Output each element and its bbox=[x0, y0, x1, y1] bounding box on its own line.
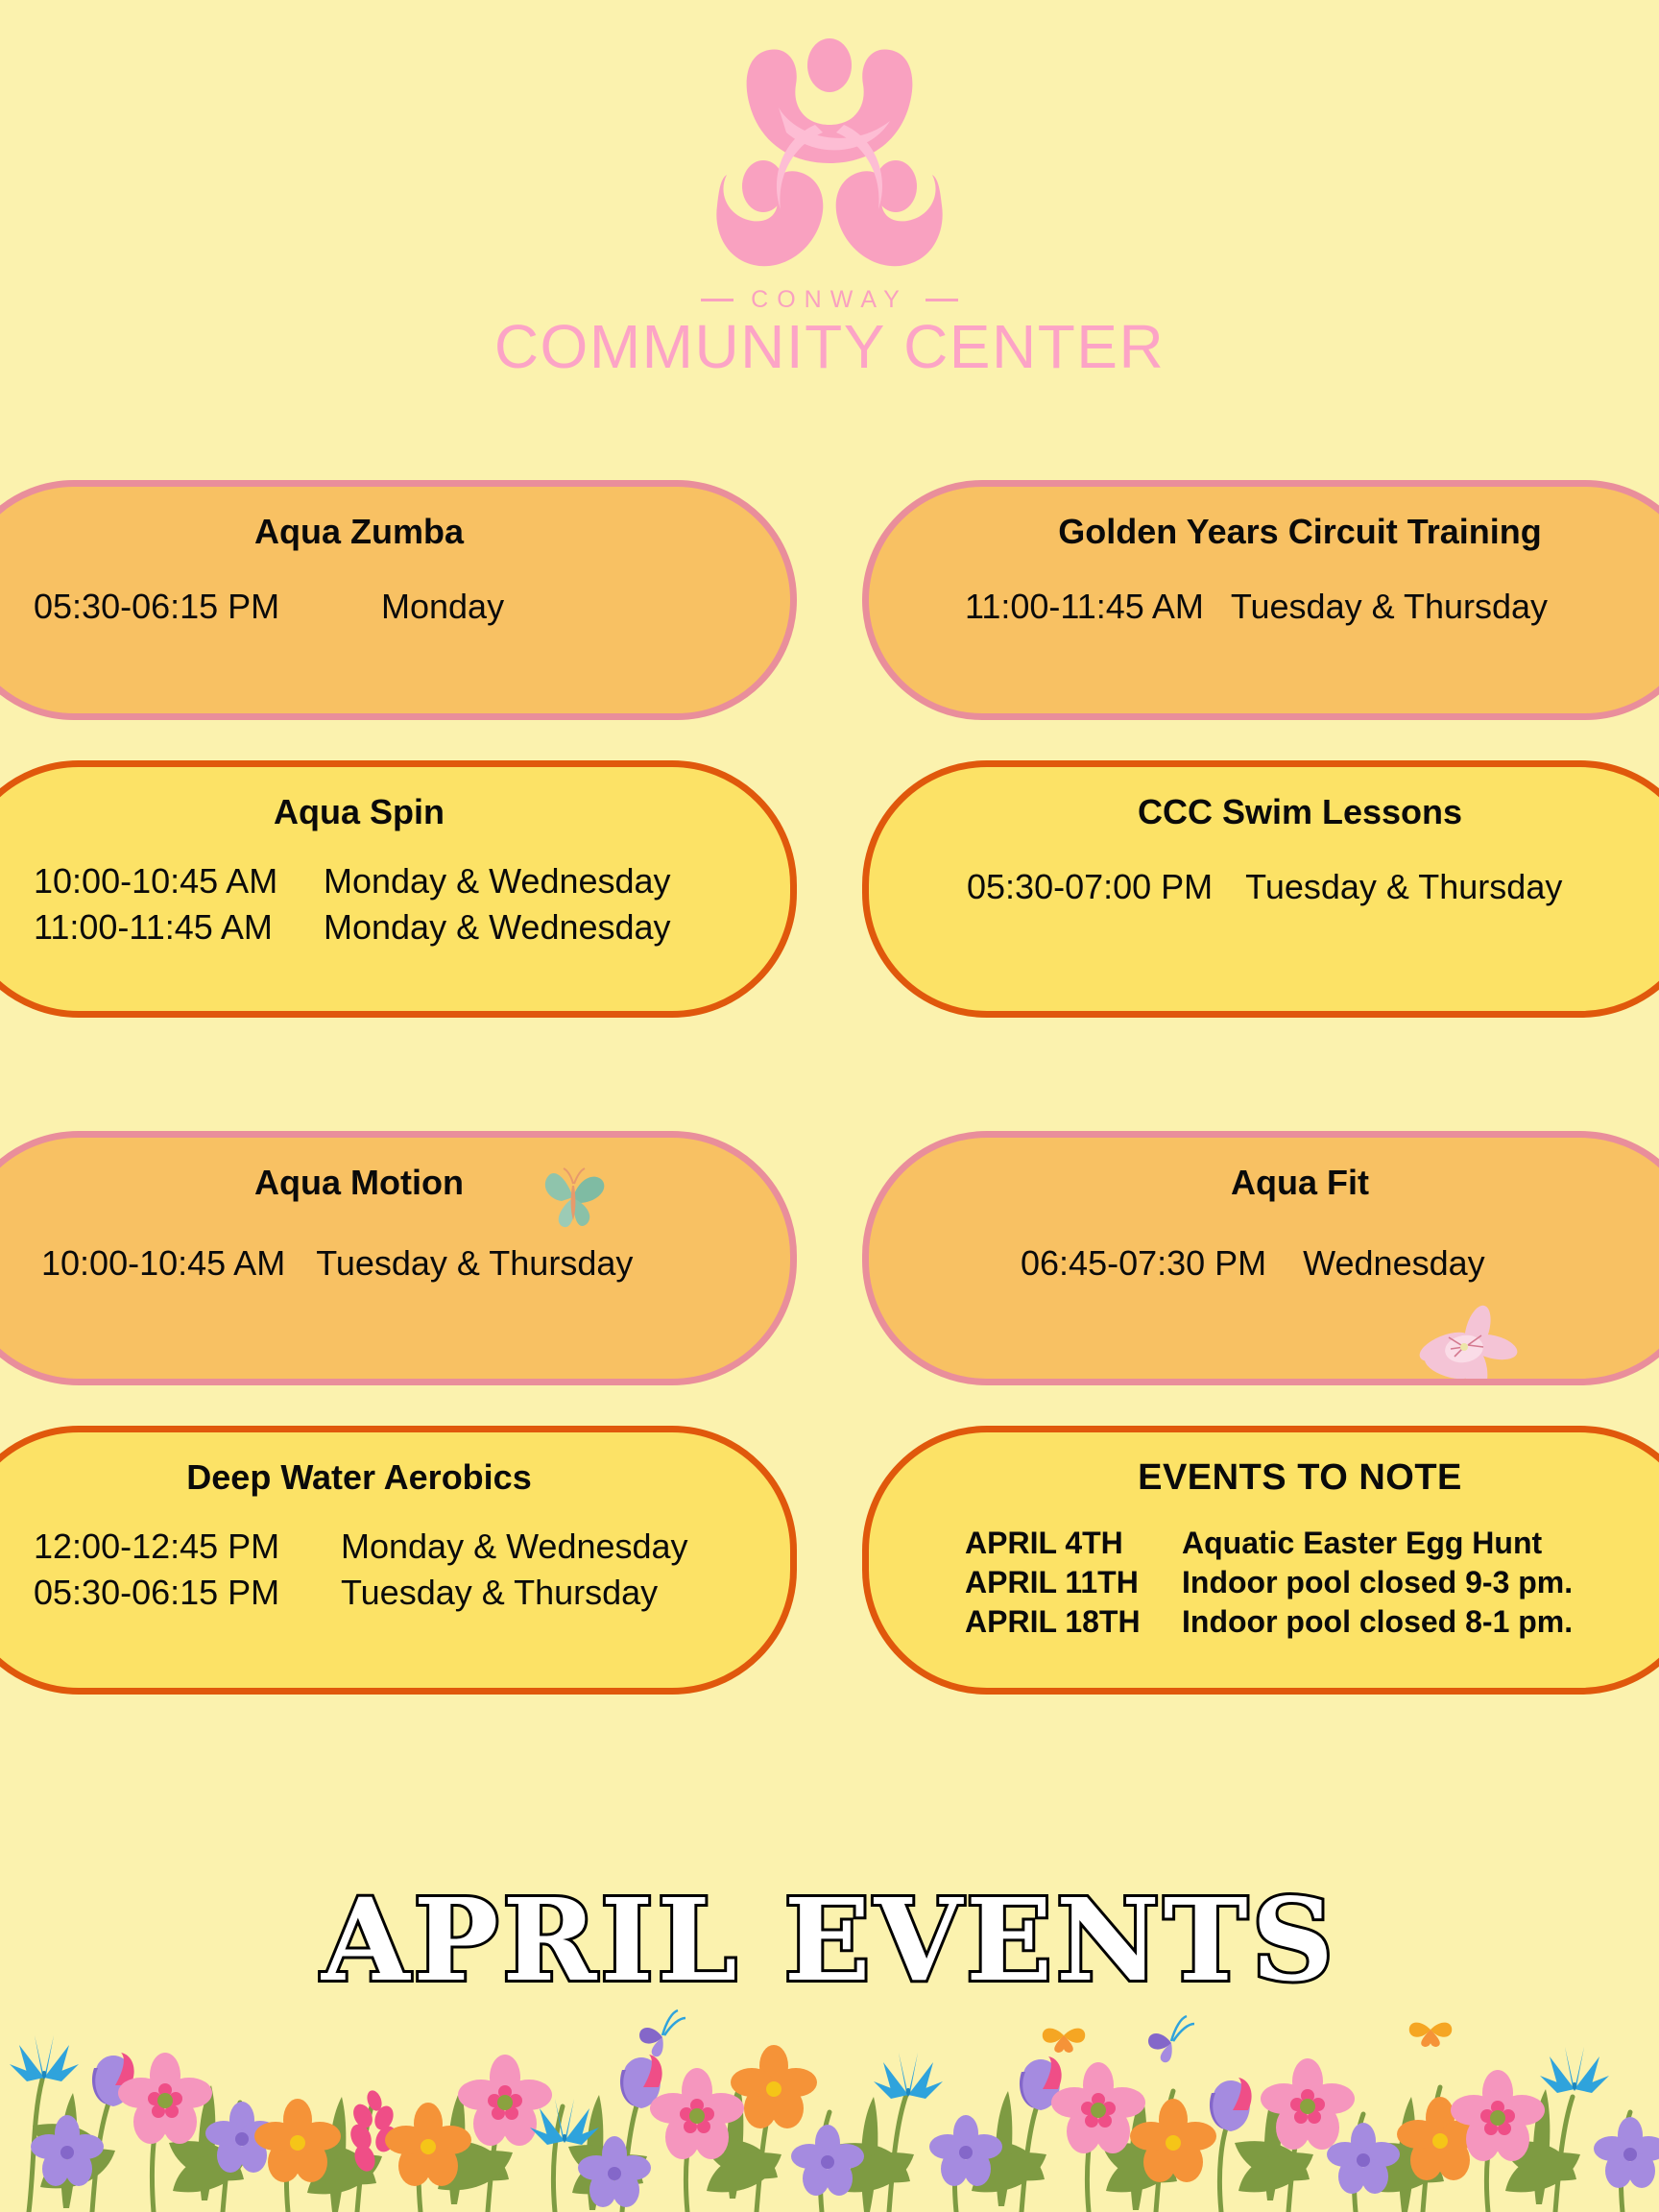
card-title: CCC Swim Lessons bbox=[907, 792, 1659, 831]
event-date: APRIL 11TH bbox=[965, 1564, 1172, 1601]
schedule-line: 12:00-12:45 PM Monday & Wednesday bbox=[34, 1526, 752, 1568]
event-line: APRIL 4TH Aquatic Easter Egg Hunt bbox=[965, 1525, 1659, 1562]
card-lines: 10:00-10:45 AM Monday & Wednesday 11:00-… bbox=[0, 860, 752, 949]
schedule-days: Tuesday & Thursday bbox=[329, 1572, 658, 1614]
schedule-time: 12:00-12:45 PM bbox=[34, 1526, 329, 1568]
card-events-to-note[interactable]: EVENTS TO NOTE APRIL 4TH Aquatic Easter … bbox=[862, 1426, 1659, 1695]
schedule-line: 11:00-11:45 AM Tuesday & Thursday bbox=[965, 586, 1659, 628]
card-lines: 06:45-07:30 PM Wednesday bbox=[907, 1242, 1659, 1285]
card-lines: 05:30-06:15 PM Monday bbox=[0, 586, 752, 628]
card-lines: 11:00-11:45 AM Tuesday & Thursday bbox=[907, 586, 1659, 628]
lily-flower-icon bbox=[1407, 1287, 1522, 1385]
card-row: Aqua Motion 10:00-10:45 AM Tuesday & Thu… bbox=[0, 1131, 1659, 1385]
card-title: Aqua Motion bbox=[0, 1163, 752, 1202]
schedule-line: 10:00-10:45 AM Monday & Wednesday bbox=[34, 860, 752, 902]
schedule-days: Monday & Wednesday bbox=[312, 860, 671, 902]
schedule-time: 05:30-06:15 PM bbox=[34, 1572, 329, 1614]
event-line: APRIL 18TH Indoor pool closed 8-1 pm. bbox=[965, 1603, 1659, 1641]
card-lines: 10:00-10:45 AM Tuesday & Thursday bbox=[0, 1242, 752, 1285]
schedule-days: Monday & Wednesday bbox=[312, 906, 671, 949]
schedule-days: Monday & Wednesday bbox=[329, 1526, 688, 1568]
card-aqua-spin[interactable]: Aqua Spin 10:00-10:45 AM Monday & Wednes… bbox=[0, 760, 797, 1018]
schedule-days: Tuesday & Thursday bbox=[1213, 866, 1562, 908]
logo-dash-right bbox=[926, 299, 958, 301]
schedule-days: Tuesday & Thursday bbox=[1204, 586, 1548, 628]
schedule-time: 11:00-11:45 AM bbox=[34, 906, 312, 949]
event-date: APRIL 18TH bbox=[965, 1603, 1172, 1641]
logo-top-word: CONWAY bbox=[751, 286, 908, 314]
event-description: Indoor pool closed 9-3 pm. bbox=[1172, 1564, 1573, 1601]
conway-community-center-logo-icon bbox=[709, 33, 950, 282]
schedule-line: 11:00-11:45 AM Monday & Wednesday bbox=[34, 906, 752, 949]
event-description: Aquatic Easter Egg Hunt bbox=[1172, 1525, 1542, 1562]
schedule-line: 06:45-07:30 PM Wednesday bbox=[1021, 1242, 1659, 1285]
logo-dash-left bbox=[701, 299, 733, 301]
logo-caption: CONWAY bbox=[701, 286, 958, 314]
card-row: Aqua Spin 10:00-10:45 AM Monday & Wednes… bbox=[0, 760, 1659, 1018]
card-title: Aqua Zumba bbox=[0, 512, 752, 551]
schedule-days: Tuesday & Thursday bbox=[285, 1242, 633, 1285]
card-lines: APRIL 4TH Aquatic Easter Egg Hunt APRIL … bbox=[907, 1525, 1659, 1641]
card-lines: 05:30-07:00 PM Tuesday & Thursday bbox=[907, 866, 1659, 908]
schedule-line: 10:00-10:45 AM Tuesday & Thursday bbox=[41, 1242, 752, 1285]
page-bottom-title: APRIL EVENTS bbox=[0, 1884, 1659, 1997]
card-ccc-swim-lessons[interactable]: CCC Swim Lessons 05:30-07:00 PM Tuesday … bbox=[862, 760, 1659, 1018]
schedule-line: 05:30-06:15 PM Tuesday & Thursday bbox=[34, 1572, 752, 1614]
schedule-time: 10:00-10:45 AM bbox=[41, 1242, 285, 1285]
card-deep-water-aerobics[interactable]: Deep Water Aerobics 12:00-12:45 PM Monda… bbox=[0, 1426, 797, 1695]
card-row: Aqua Zumba 05:30-06:15 PM Monday Golden … bbox=[0, 480, 1659, 720]
card-title: EVENTS TO NOTE bbox=[907, 1457, 1659, 1500]
card-aqua-zumba[interactable]: Aqua Zumba 05:30-06:15 PM Monday bbox=[0, 480, 797, 720]
card-title: Golden Years Circuit Training bbox=[907, 512, 1659, 551]
event-line: APRIL 11TH Indoor pool closed 9-3 pm. bbox=[965, 1564, 1659, 1601]
schedule-line: 05:30-06:15 PM Monday bbox=[34, 586, 752, 628]
schedule-time: 05:30-07:00 PM bbox=[967, 866, 1213, 908]
card-golden-years-circuit-training[interactable]: Golden Years Circuit Training 11:00-11:4… bbox=[862, 480, 1659, 720]
card-title: Aqua Fit bbox=[907, 1163, 1659, 1202]
schedule-time: 05:30-06:15 PM bbox=[34, 586, 322, 628]
logo-title: COMMUNITY CENTER bbox=[494, 316, 1165, 377]
schedule-line: 05:30-07:00 PM Tuesday & Thursday bbox=[967, 866, 1659, 908]
schedule-time: 06:45-07:30 PM bbox=[1021, 1242, 1266, 1285]
card-aqua-fit[interactable]: Aqua Fit bbox=[862, 1131, 1659, 1385]
schedule-time: 11:00-11:45 AM bbox=[965, 586, 1204, 628]
flower-border-decoration bbox=[0, 1982, 1659, 2212]
card-aqua-motion[interactable]: Aqua Motion 10:00-10:45 AM Tuesday & Thu… bbox=[0, 1131, 797, 1385]
event-date: APRIL 4TH bbox=[965, 1525, 1172, 1562]
card-title: Aqua Spin bbox=[0, 792, 752, 831]
header: CONWAY COMMUNITY CENTER bbox=[0, 0, 1659, 377]
class-schedule-grid: Aqua Zumba 05:30-06:15 PM Monday Golden … bbox=[0, 480, 1659, 1695]
card-row: Deep Water Aerobics 12:00-12:45 PM Monda… bbox=[0, 1426, 1659, 1695]
schedule-days: Wednesday bbox=[1266, 1242, 1484, 1285]
event-description: Indoor pool closed 8-1 pm. bbox=[1172, 1603, 1573, 1641]
schedule-days: Monday bbox=[322, 586, 504, 628]
card-title: Deep Water Aerobics bbox=[0, 1457, 752, 1497]
schedule-time: 10:00-10:45 AM bbox=[34, 860, 312, 902]
card-lines: 12:00-12:45 PM Monday & Wednesday 05:30-… bbox=[0, 1526, 752, 1614]
